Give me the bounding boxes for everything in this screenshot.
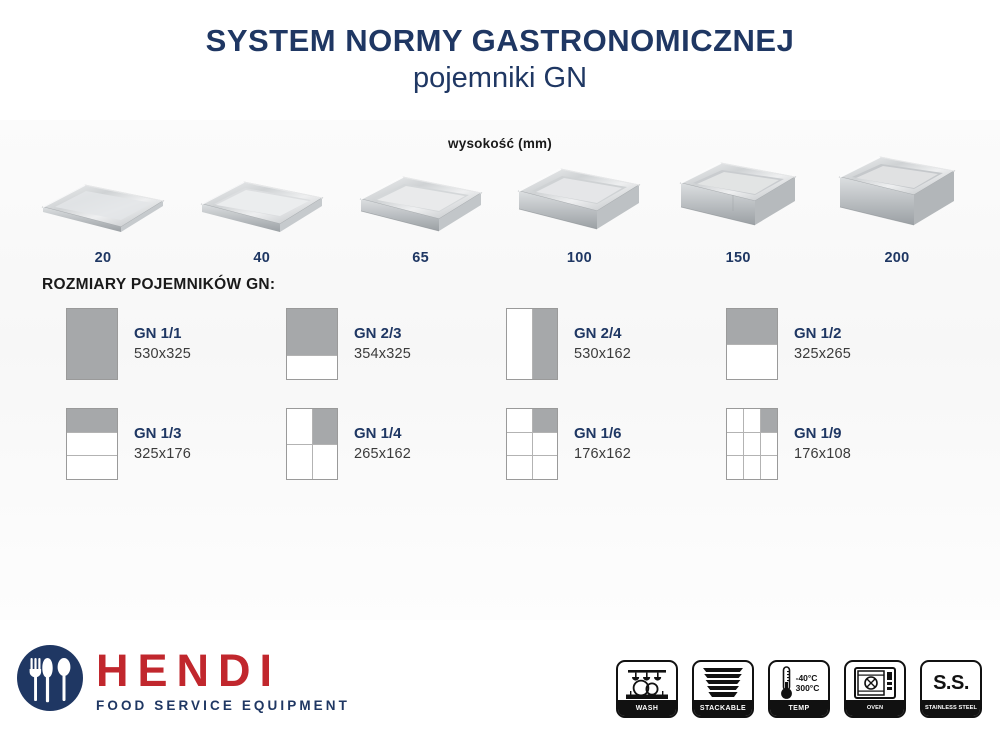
pan-item-150: 150 bbox=[663, 155, 813, 266]
diagram-gn-2-3 bbox=[286, 308, 338, 380]
sizes-row-1: GN 1/1 530x325 GN 2/3 354x325 bbox=[0, 308, 1000, 380]
badge-ss-text: S.S. bbox=[933, 672, 969, 695]
diagram-gn-1-4 bbox=[286, 408, 338, 480]
badge-wash-caption: WASH bbox=[618, 700, 676, 716]
diagram-gn-1-1 bbox=[66, 308, 118, 380]
pan-height-row: 20 40 bbox=[0, 151, 1000, 266]
pan-100-label: 100 bbox=[504, 250, 654, 266]
size-dims-gn-1-1: 530x325 bbox=[134, 344, 191, 365]
pan-20-icon bbox=[28, 155, 178, 241]
size-dims-gn-1-4: 265x162 bbox=[354, 444, 411, 465]
size-item-gn-2-3: GN 2/3 354x325 bbox=[286, 308, 506, 380]
diagram-gn-1-2 bbox=[726, 308, 778, 380]
diagram-gn-1-6 bbox=[506, 408, 558, 480]
size-dims-gn-1-2: 325x265 bbox=[794, 344, 851, 365]
size-item-gn-1-6: GN 1/6 176x162 bbox=[506, 408, 726, 480]
feature-badges: WASH STACKABLE bbox=[616, 660, 982, 718]
diagram-gn-1-9 bbox=[726, 408, 778, 480]
badge-wash: WASH bbox=[616, 660, 678, 718]
size-name-gn-1-9: GN 1/9 bbox=[794, 423, 851, 445]
title-line-1: SYSTEM NORMY GASTRONOMICZNEJ bbox=[0, 24, 1000, 59]
size-name-gn-2-3: GN 2/3 bbox=[354, 323, 411, 345]
badge-temp-min: -40°C bbox=[796, 673, 820, 683]
size-name-gn-1-4: GN 1/4 bbox=[354, 423, 411, 445]
badge-temp: -40°C 300°C TEMP bbox=[768, 660, 830, 718]
size-item-gn-1-1: GN 1/1 530x325 bbox=[66, 308, 286, 380]
badge-oven: OVEN bbox=[844, 660, 906, 718]
size-name-gn-1-2: GN 1/2 bbox=[794, 323, 851, 345]
size-item-gn-1-3: GN 1/3 325x176 bbox=[66, 408, 286, 480]
page-title: SYSTEM NORMY GASTRONOMICZNEJ pojemniki G… bbox=[0, 0, 1000, 96]
pan-40-label: 40 bbox=[187, 250, 337, 266]
pan-item-100: 100 bbox=[504, 155, 654, 266]
badge-temp-caption: TEMP bbox=[770, 700, 828, 716]
diagram-gn-1-3 bbox=[66, 408, 118, 480]
size-item-gn-1-9: GN 1/9 176x108 bbox=[726, 408, 946, 480]
badge-stackable: STACKABLE bbox=[692, 660, 754, 718]
diagram-gn-2-4 bbox=[506, 308, 558, 380]
sizes-grid: GN 1/1 530x325 GN 2/3 354x325 bbox=[0, 294, 1000, 480]
sizes-heading: ROZMIARY POJEMNIKÓW GN: bbox=[0, 266, 1000, 294]
size-dims-gn-2-4: 530x162 bbox=[574, 344, 631, 365]
cutlery-circle-icon bbox=[14, 642, 86, 719]
pan-item-40: 40 bbox=[187, 155, 337, 266]
pan-65-icon bbox=[346, 155, 496, 241]
sizes-row-2: GN 1/3 325x176 GN 1/4 265x162 bbox=[0, 408, 1000, 480]
badge-stackable-caption: STACKABLE bbox=[694, 700, 752, 716]
pan-item-20: 20 bbox=[28, 155, 178, 266]
size-item-gn-2-4: GN 2/4 530x162 bbox=[506, 308, 726, 380]
size-name-gn-2-4: GN 2/4 bbox=[574, 323, 631, 345]
pan-item-200: 200 bbox=[822, 155, 972, 266]
logo-brand-text: HENDI bbox=[96, 648, 350, 693]
badge-ss-caption: STAINLESS STEEL bbox=[922, 700, 980, 716]
badge-oven-caption: OVEN bbox=[846, 700, 904, 716]
size-name-gn-1-1: GN 1/1 bbox=[134, 323, 191, 345]
size-dims-gn-1-6: 176x162 bbox=[574, 444, 631, 465]
pan-40-icon bbox=[187, 155, 337, 241]
pan-200-label: 200 bbox=[822, 250, 972, 266]
badge-temp-max: 300°C bbox=[796, 683, 820, 693]
size-item-gn-1-4: GN 1/4 265x162 bbox=[286, 408, 506, 480]
pan-200-icon bbox=[822, 155, 972, 241]
badge-stainless-steel: S.S. STAINLESS STEEL bbox=[920, 660, 982, 718]
pan-item-65: 65 bbox=[346, 155, 496, 266]
size-name-gn-1-3: GN 1/3 bbox=[134, 423, 191, 445]
pan-65-label: 65 bbox=[346, 250, 496, 266]
size-name-gn-1-6: GN 1/6 bbox=[574, 423, 631, 445]
title-line-2: pojemniki GN bbox=[0, 61, 1000, 96]
size-dims-gn-1-9: 176x108 bbox=[794, 444, 851, 465]
logo-tagline: FOOD SERVICE EQUIPMENT bbox=[96, 699, 350, 713]
oven-icon bbox=[846, 662, 904, 704]
height-caption: wysokość (mm) bbox=[0, 120, 1000, 151]
stacked-pans-icon bbox=[694, 662, 752, 704]
size-item-gn-1-2: GN 1/2 325x265 bbox=[726, 308, 946, 380]
pan-150-icon bbox=[663, 155, 813, 241]
dishwasher-icon bbox=[618, 662, 676, 704]
size-dims-gn-1-3: 325x176 bbox=[134, 444, 191, 465]
size-dims-gn-2-3: 354x325 bbox=[354, 344, 411, 365]
pan-20-label: 20 bbox=[28, 250, 178, 266]
content-panel: wysokość (mm) bbox=[0, 120, 1000, 620]
pan-150-label: 150 bbox=[663, 250, 813, 266]
stainless-steel-icon: S.S. bbox=[922, 662, 980, 704]
pan-100-icon bbox=[504, 155, 654, 241]
footer: HENDI FOOD SERVICE EQUIPMENT bbox=[0, 620, 1000, 750]
hendi-logo: HENDI FOOD SERVICE EQUIPMENT bbox=[14, 642, 350, 719]
thermometer-icon: -40°C 300°C bbox=[770, 662, 828, 704]
